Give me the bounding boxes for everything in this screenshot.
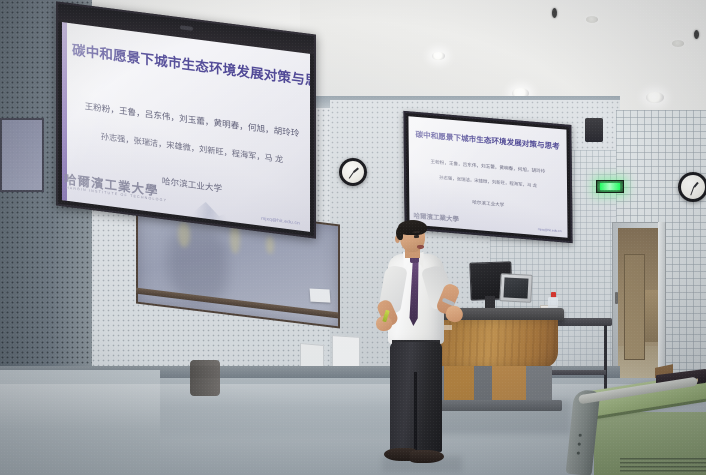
desk-wire-shelf (620, 458, 706, 474)
monitor-stand (485, 296, 495, 308)
presenter-mouth (417, 245, 424, 249)
presenter-shoe-right (410, 450, 444, 463)
background-chair[interactable] (190, 360, 220, 396)
wall-clock (678, 172, 706, 202)
presenter-eye (414, 235, 419, 238)
posted-note (310, 289, 331, 303)
screen-glare-secondary (408, 116, 567, 237)
ceiling-sensor-icon (694, 30, 699, 39)
presenter-hair-side (396, 227, 403, 240)
clock-minute-hand (348, 172, 354, 179)
laptop-lid (499, 273, 532, 303)
projection-screen-main[interactable]: 碳中和愿景下城市生态环境发展对策与思考 王粉粉，王鲁，吕东伟，刘玉蕾，黄明春，何… (56, 1, 316, 238)
exit-sign-glow (600, 183, 620, 190)
ceiling-sensor-icon (552, 8, 557, 18)
audience-chair[interactable] (570, 386, 612, 475)
open-doorway[interactable] (618, 228, 658, 378)
ceiling-downlight-icon (586, 16, 598, 23)
chalk-smudge (178, 221, 190, 248)
presenter-laptop[interactable] (500, 274, 530, 308)
presenter (374, 222, 478, 466)
side-board (0, 118, 44, 192)
wall-speaker-icon (585, 118, 603, 142)
clock-minute-hand (690, 187, 694, 196)
laptop-screen (503, 277, 528, 298)
trouser-seam (414, 372, 417, 452)
slide-surface-main: 碳中和愿景下城市生态环境发展对策与思考 王粉粉，王鲁，吕东伟，刘玉蕾，黄明春，何… (62, 22, 310, 232)
chair-vent-hole (579, 434, 582, 437)
slide-surface-secondary: 碳中和愿景下城市生态环境发展对策与思考 王粉粉，王鲁，吕东伟，刘玉蕾，黄明春，何… (408, 116, 567, 237)
ceiling-downlight-icon (646, 92, 664, 103)
exit-sign (596, 180, 624, 193)
lecture-hall-photo: 碳中和愿景下城市生态环境发展对策与思考 王粉粉，王鲁，吕东伟，刘玉蕾，黄明春，何… (0, 0, 706, 475)
corridor-counter (644, 290, 658, 342)
presenter-right-hand (444, 304, 465, 324)
chalk-smudge (266, 235, 274, 254)
door-handle-icon[interactable] (615, 292, 618, 304)
wall-clock (339, 158, 367, 186)
chair-vent-hole (578, 443, 581, 446)
chair-vent-hole (577, 451, 580, 454)
slide-footer-url: mjxq@hit.edu.cn (261, 216, 300, 226)
inner-door[interactable] (624, 254, 645, 360)
door-frame-edge (658, 222, 665, 380)
ceiling-downlight-icon (432, 52, 445, 60)
ceiling-speaker-icon (180, 25, 193, 31)
ceiling-downlight-icon (672, 40, 684, 47)
